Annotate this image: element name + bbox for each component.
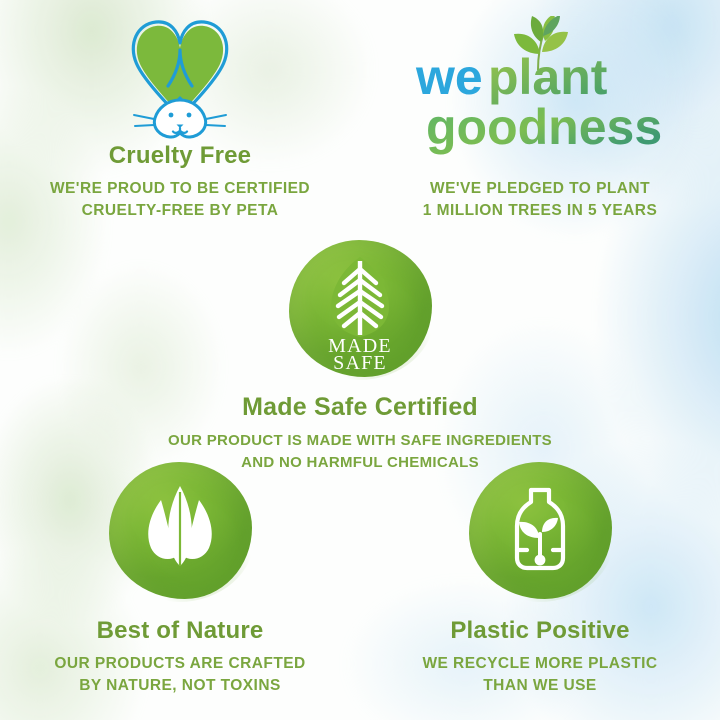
- claim-description-line: BY NATURE, NOT TOXINS: [79, 677, 281, 694]
- we-plant-goodness-logo-wrap: we plant goodness: [368, 16, 712, 166]
- peta-cruelty-free-bunny-icon: [118, 16, 242, 142]
- claim-description: WE'VE PLEDGED TO PLANT 1 MILLION TREES I…: [368, 178, 712, 223]
- sustainability-claims-poster: Cruelty Free WE'RE PROUD TO BE CERTIFIED…: [0, 0, 720, 720]
- claim-description-line: WE RECYCLE MORE PLASTIC: [422, 655, 657, 672]
- cruelty-free-icon-wrap: [8, 16, 352, 142]
- claim-description-line: THAN WE USE: [483, 677, 596, 694]
- claim-plastic-positive: Plastic Positive WE RECYCLE MORE PLASTIC…: [368, 462, 712, 698]
- claim-made-safe: MADE SAFE Made Safe Certified OUR PRODUC…: [120, 240, 600, 474]
- logo-word-plant: plant: [488, 49, 608, 105]
- bottle-with-sprout-badge-icon: [485, 476, 595, 586]
- logo-word-we: we: [415, 49, 483, 105]
- claim-description-line: 1 MILLION TREES IN 5 YEARS: [423, 202, 657, 219]
- claim-description-line: WE'RE PROUD TO BE CERTIFIED: [50, 180, 310, 197]
- we-plant-goodness-logo: we plant goodness: [410, 16, 670, 166]
- claim-title: Made Safe Certified: [120, 393, 600, 422]
- claim-description-line: CRUELTY-FREE BY PETA: [82, 202, 279, 219]
- best-of-nature-badge: [109, 462, 252, 599]
- chevron-leaf-icon: [328, 255, 392, 340]
- claim-title: Plastic Positive: [368, 617, 712, 645]
- claim-description-line: OUR PRODUCTS ARE CRAFTED: [54, 655, 305, 672]
- claim-title: Best of Nature: [8, 617, 352, 645]
- claim-cruelty-free: Cruelty Free WE'RE PROUD TO BE CERTIFIED…: [8, 16, 352, 223]
- claim-description-line: OUR PRODUCT IS MADE WITH SAFE INGREDIENT…: [168, 432, 552, 449]
- made-safe-word-safe: SAFE: [333, 352, 387, 369]
- three-leaves-badge-icon: [125, 476, 235, 586]
- claim-description: WE RECYCLE MORE PLASTIC THAN WE USE: [368, 653, 712, 698]
- claim-description-line: WE'VE PLEDGED TO PLANT: [430, 180, 650, 197]
- sprout-inside-bottle: [519, 517, 558, 565]
- logo-word-goodness: goodness: [426, 99, 662, 155]
- plastic-positive-badge: [469, 462, 612, 599]
- made-safe-badge: MADE SAFE: [289, 240, 432, 377]
- claim-we-plant-goodness: we plant goodness WE'VE PLEDGED TO PLANT…: [368, 16, 712, 223]
- claim-best-of-nature: Best of Nature OUR PRODUCTS ARE CRAFTED …: [8, 462, 352, 698]
- claim-description: OUR PRODUCTS ARE CRAFTED BY NATURE, NOT …: [8, 653, 352, 698]
- made-safe-leaf-badge-icon: MADE SAFE: [300, 249, 420, 369]
- claim-description: WE'RE PROUD TO BE CERTIFIED CRUELTY-FREE…: [8, 178, 352, 223]
- claim-title: Cruelty Free: [8, 142, 352, 170]
